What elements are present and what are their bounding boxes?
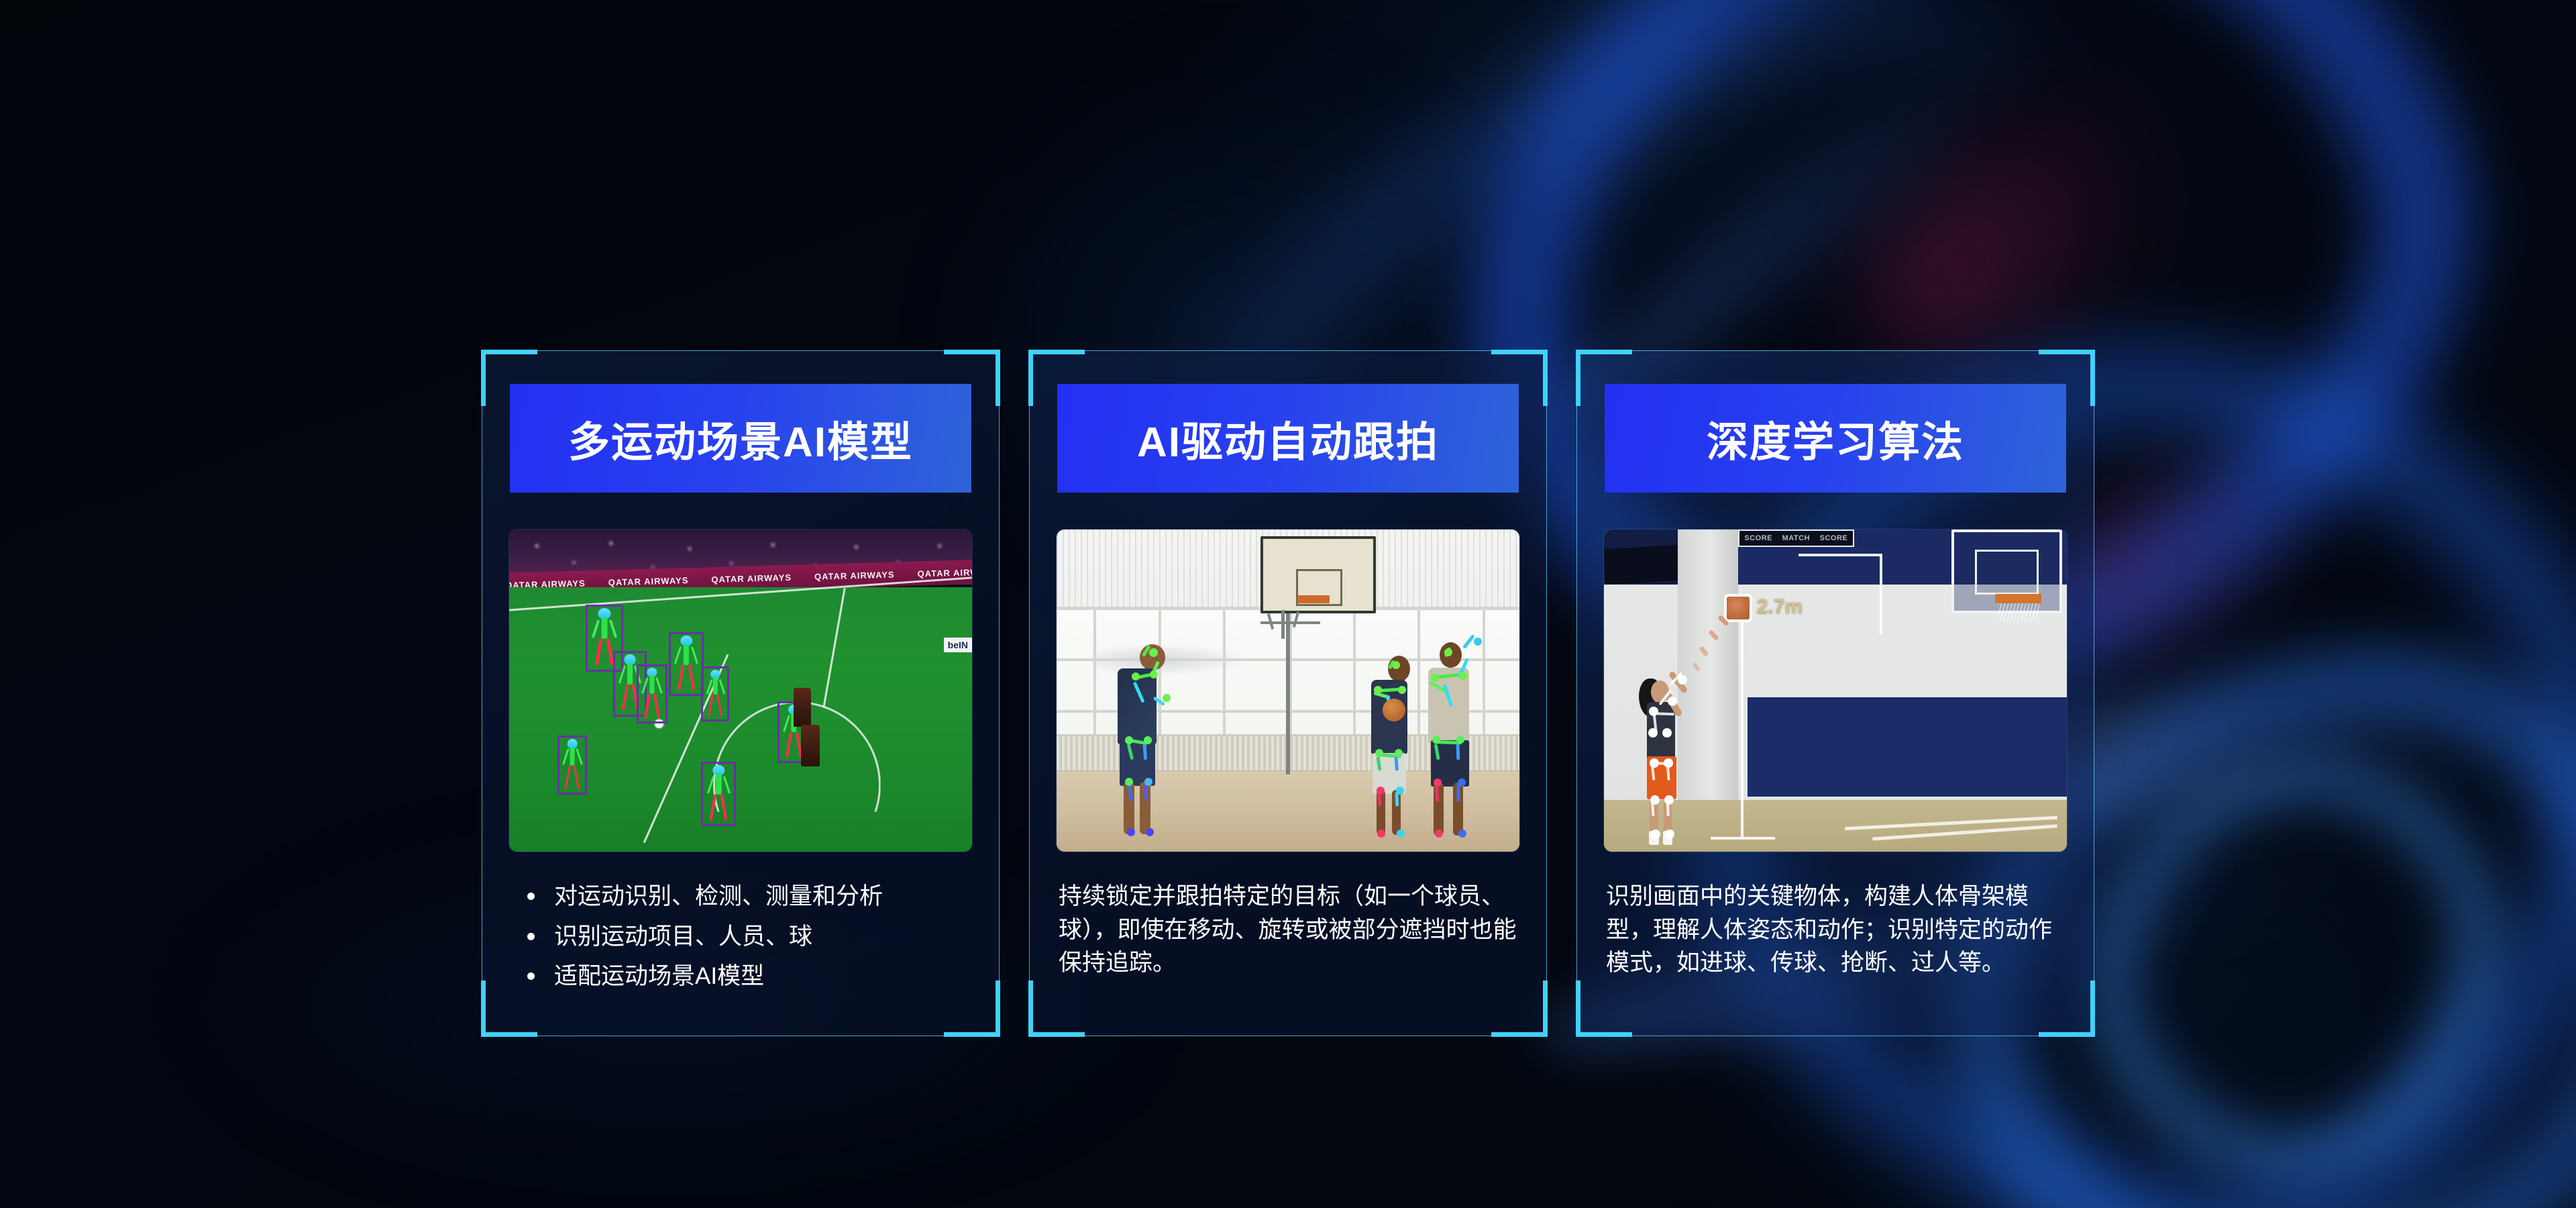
keypoint-ankle bbox=[1397, 829, 1405, 838]
soccer-scene: QATAR AIRWAYS QATAR AIRWAYS QATAR AIRWAY… bbox=[509, 530, 972, 852]
scoreboard: SCORE MATCH SCORE bbox=[1738, 530, 1854, 547]
player-detection-box bbox=[701, 666, 729, 721]
torso-bone bbox=[684, 644, 689, 664]
measurement-base-line bbox=[1711, 837, 1776, 840]
hoop-cross-brace bbox=[1260, 621, 1321, 624]
left-leg-bone bbox=[644, 693, 651, 717]
scoreboard-label-away: SCORE bbox=[1820, 534, 1848, 542]
card-title-banner: 深度学习算法 bbox=[1605, 384, 2066, 493]
window-frame-vertical bbox=[1093, 607, 1096, 736]
left-leg-bone bbox=[565, 765, 572, 789]
keypoint-shoulder bbox=[1398, 686, 1406, 694]
right-leg-bone bbox=[688, 664, 696, 691]
left-arm-bone bbox=[619, 665, 626, 683]
torso-bone bbox=[601, 617, 607, 639]
scoreboard-label-home: SCORE bbox=[1744, 534, 1772, 542]
keypoint-hip bbox=[1375, 749, 1383, 757]
keypoint-knee bbox=[1434, 778, 1442, 787]
broadcast-logo: beIN bbox=[944, 638, 972, 652]
basketball-rim bbox=[1297, 595, 1330, 603]
basketball-rim bbox=[1995, 594, 2041, 603]
right-leg-bone bbox=[720, 794, 728, 821]
pitch-line-vertical bbox=[822, 589, 845, 709]
keypoint-elbow bbox=[1163, 694, 1171, 702]
height-measurement-label: 2.7m bbox=[1757, 595, 1803, 618]
card-body-text: 识别画面中的关键物体，构建人体骨架模型，理解人体姿态和动作；识别特定的动作模式，… bbox=[1605, 880, 2066, 980]
keypoint-ankle bbox=[1127, 828, 1135, 836]
keypoint-knee bbox=[1458, 778, 1466, 787]
ad-text-4: QATAR AIRWAYS bbox=[814, 569, 895, 581]
opponent-player bbox=[794, 688, 811, 727]
window-frame-vertical bbox=[1223, 607, 1226, 736]
measurement-vertical-line bbox=[1880, 554, 1882, 634]
right-leg-bone bbox=[574, 765, 580, 789]
gym-scene bbox=[1057, 530, 1519, 852]
keypoint-knee bbox=[1650, 795, 1660, 805]
player-detection-box bbox=[637, 664, 667, 723]
shot-measurement-scene: SCORE MATCH SCORE 2.7m bbox=[1604, 530, 2067, 852]
player-detection-box bbox=[669, 632, 704, 696]
forearm-raised-bone bbox=[1462, 634, 1475, 649]
left-arm-bone bbox=[706, 679, 712, 694]
keypoint-wrist bbox=[1474, 638, 1482, 646]
keypoint-knee bbox=[1664, 795, 1674, 805]
feature-description: 识别画面中的关键物体，构建人体骨架模型，理解人体姿态和动作；识别特定的动作模式，… bbox=[1605, 880, 2066, 980]
left-leg-bone bbox=[678, 664, 685, 691]
shooting-height-measurement-preview[interactable]: SCORE MATCH SCORE 2.7m bbox=[1604, 530, 2067, 852]
measurement-drop-line bbox=[1741, 617, 1743, 839]
scoreboard-label-match: MATCH bbox=[1782, 534, 1810, 542]
football-pitch: beIN bbox=[509, 587, 972, 852]
torso-bone bbox=[570, 747, 575, 766]
right-arm-bone bbox=[609, 619, 617, 638]
hoop-support-pole bbox=[1281, 610, 1285, 639]
left-leg-bone bbox=[621, 684, 629, 711]
keypoint-hip bbox=[1664, 758, 1673, 768]
right-arm-bone bbox=[576, 748, 582, 764]
backboard-inner-square bbox=[1975, 550, 2039, 595]
basketball-net bbox=[1998, 603, 2039, 623]
right-arm-bone bbox=[718, 679, 724, 694]
background-curve-glow bbox=[2037, 700, 2552, 1208]
tracked-player-right-b bbox=[1417, 630, 1491, 842]
wall-padding-panel bbox=[1748, 697, 2067, 801]
card-body-text: 持续锁定并跟拍特定的目标（如一个球员、球），即使在移动、旋转或被部分遮挡时也能保… bbox=[1057, 880, 1519, 980]
torso-bone bbox=[649, 675, 654, 694]
right-arm-bone bbox=[655, 677, 662, 693]
keypoint-wrist bbox=[1678, 675, 1687, 685]
player-detection-box bbox=[557, 736, 587, 795]
ball-tracking-box bbox=[1724, 594, 1752, 622]
keypoint-shoulder bbox=[1662, 728, 1672, 738]
right-arm-bone bbox=[723, 776, 731, 794]
keypoint-ankle bbox=[1435, 829, 1443, 838]
right-leg-bone bbox=[716, 694, 722, 716]
left-arm-bone bbox=[674, 646, 682, 664]
shin-bone bbox=[1456, 784, 1460, 801]
list-item: 对运动识别、检测、测量和分析 bbox=[521, 880, 967, 913]
feature-card-ai-auto-tracking[interactable]: AI驱动自动跟拍 bbox=[1029, 350, 1547, 1036]
slide-stage: 多运动场景AI模型 QATAR AIRWAYS QATAR AIRWAYS QA… bbox=[0, 0, 2576, 1208]
keypoint-ankle bbox=[1651, 829, 1660, 839]
keypoint-knee bbox=[1396, 787, 1404, 795]
keypoint-hip bbox=[1395, 749, 1403, 757]
left-leg-bone bbox=[594, 638, 602, 666]
measurement-top-line bbox=[1799, 554, 1882, 556]
left-arm-bone bbox=[783, 715, 790, 732]
list-item: 适配运动场景AI模型 bbox=[521, 960, 967, 993]
left-arm-bone bbox=[706, 776, 714, 794]
player-detection-box bbox=[701, 762, 736, 826]
ad-text-3: QATAR AIRWAYS bbox=[711, 572, 792, 585]
ad-text-2: QATAR AIRWAYS bbox=[608, 575, 689, 587]
left-arm-bone bbox=[562, 748, 569, 764]
left-leg-bone bbox=[710, 794, 717, 821]
soccer-pitch-detection-preview[interactable]: QATAR AIRWAYS QATAR AIRWAYS QATAR AIRWAY… bbox=[509, 530, 972, 852]
tracked-player-left bbox=[1108, 642, 1181, 842]
feature-card-sports-ai-model[interactable]: 多运动场景AI模型 QATAR AIRWAYS QATAR AIRWAYS QA… bbox=[482, 350, 1000, 1036]
card-title-banner: 多运动场景AI模型 bbox=[510, 384, 971, 493]
left-arm-bone bbox=[641, 677, 648, 693]
keypoint-head bbox=[1149, 648, 1158, 657]
opponent-player bbox=[801, 725, 820, 766]
keypoint-shoulder bbox=[1374, 686, 1382, 694]
background-glow-magenta-upper bbox=[1831, 19, 2273, 397]
feature-card-deep-learning-algorithm[interactable]: 深度学习算法 SCORE MATCH SC bbox=[1576, 350, 2094, 1036]
window-frame-vertical bbox=[1353, 607, 1356, 736]
torso-bone bbox=[713, 677, 717, 695]
torso-bone bbox=[627, 663, 633, 684]
keypoint-knee bbox=[1377, 787, 1385, 795]
feature-card-row: 多运动场景AI模型 QATAR AIRWAYS QATAR AIRWAYS QA… bbox=[482, 350, 2100, 1036]
keypoint-elbow bbox=[1668, 697, 1677, 706]
card-title-banner: AI驱动自动跟拍 bbox=[1057, 384, 1519, 493]
keypoint-shoulder bbox=[1150, 670, 1158, 678]
basketball-gym-pose-tracking-preview[interactable] bbox=[1057, 530, 1519, 852]
keypoint-shoulder bbox=[1132, 672, 1140, 681]
card-body-text: 对运动识别、检测、测量和分析 识别运动项目、人员、球 适配运动场景AI模型 bbox=[510, 880, 971, 1000]
thigh-bone bbox=[1394, 756, 1398, 771]
left-leg-bone bbox=[708, 694, 714, 716]
left-arm-bone bbox=[592, 619, 600, 638]
right-arm-bone bbox=[691, 646, 698, 664]
torso-bone bbox=[716, 774, 721, 795]
keypoint-ankle bbox=[1665, 829, 1674, 839]
keypoint-hip bbox=[1144, 736, 1152, 744]
keypoint-ankle bbox=[1377, 829, 1385, 838]
keypoint-hip bbox=[1456, 736, 1464, 744]
keypoint-ankle bbox=[1146, 828, 1154, 836]
right-leg-bone bbox=[653, 693, 660, 717]
feature-description: 持续锁定并跟拍特定的目标（如一个球员、球），即使在移动、旋转或被部分遮挡时也能保… bbox=[1057, 880, 1519, 980]
hoop-main-post bbox=[1286, 613, 1290, 774]
list-item: 识别运动项目、人员、球 bbox=[521, 920, 967, 954]
player-head bbox=[1388, 656, 1410, 682]
feature-bullet-list: 对运动识别、检测、测量和分析 识别运动项目、人员、球 适配运动场景AI模型 bbox=[510, 880, 971, 993]
left-leg-bone bbox=[786, 732, 792, 758]
keypoint-ankle bbox=[1458, 829, 1466, 838]
tracked-shooter bbox=[1631, 668, 1701, 845]
thigh-bone bbox=[1456, 744, 1460, 760]
